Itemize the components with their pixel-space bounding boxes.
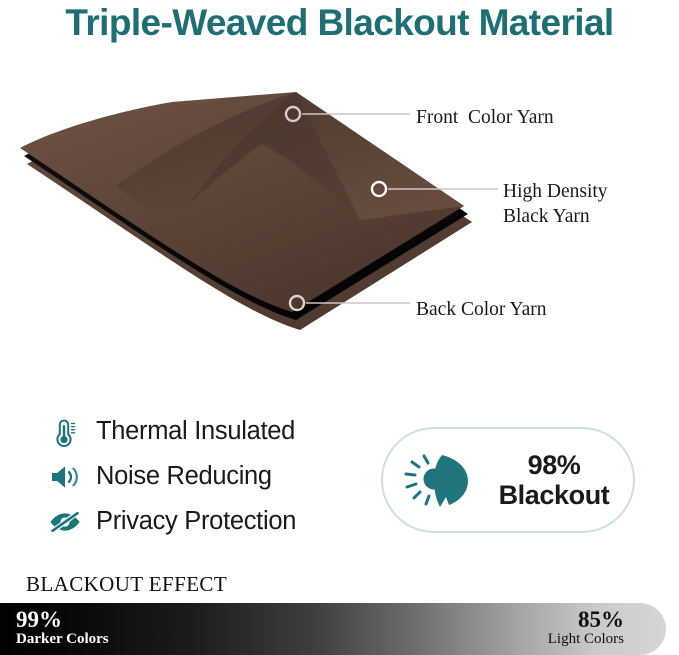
callout-high-density-black-yarn: High Density Black Yarn [503, 180, 608, 229]
feature-item-thermal-insulated: Thermal Insulated [44, 409, 374, 454]
bar-right-stat: 85% Light Colors [548, 608, 624, 648]
eye-slash-icon [44, 503, 86, 541]
bar-right-caption: Light Colors [548, 632, 624, 648]
page-title: Triple-Weaved Blackout Material [0, 2, 679, 44]
callout-front-color-yarn: Front Color Yarn [416, 106, 554, 131]
callout-back-color-yarn: Back Color Yarn [416, 298, 547, 323]
blackout-effect-gradient-bar: 99% Darker Colors 85% Light Colors [0, 603, 666, 655]
badge-caption: Blackout [499, 480, 610, 510]
feature-label: Thermal Insulated [96, 417, 295, 446]
bar-left-stat: 99% Darker Colors [16, 608, 109, 648]
badge-text: 98% Blackout [481, 450, 633, 510]
feature-item-privacy-protection: Privacy Protection [44, 499, 374, 544]
bar-right-percent: 85% [548, 608, 624, 632]
blackout-effect-label: BLACKOUT EFFECT [26, 572, 227, 597]
blackout-badge: 98% Blackout [381, 427, 635, 533]
feature-label: Noise Reducing [96, 462, 272, 491]
speaker-icon [44, 458, 86, 496]
feature-item-noise-reducing: Noise Reducing [44, 454, 374, 499]
badge-percent: 98% [528, 450, 581, 480]
bar-left-caption: Darker Colors [16, 632, 109, 648]
feature-list: Thermal Insulated Noise Reducing [44, 409, 374, 544]
feature-label: Privacy Protection [96, 507, 296, 536]
thermometer-icon [44, 413, 86, 451]
bar-left-percent: 99% [16, 608, 109, 632]
sun-blocked-icon [399, 445, 481, 515]
